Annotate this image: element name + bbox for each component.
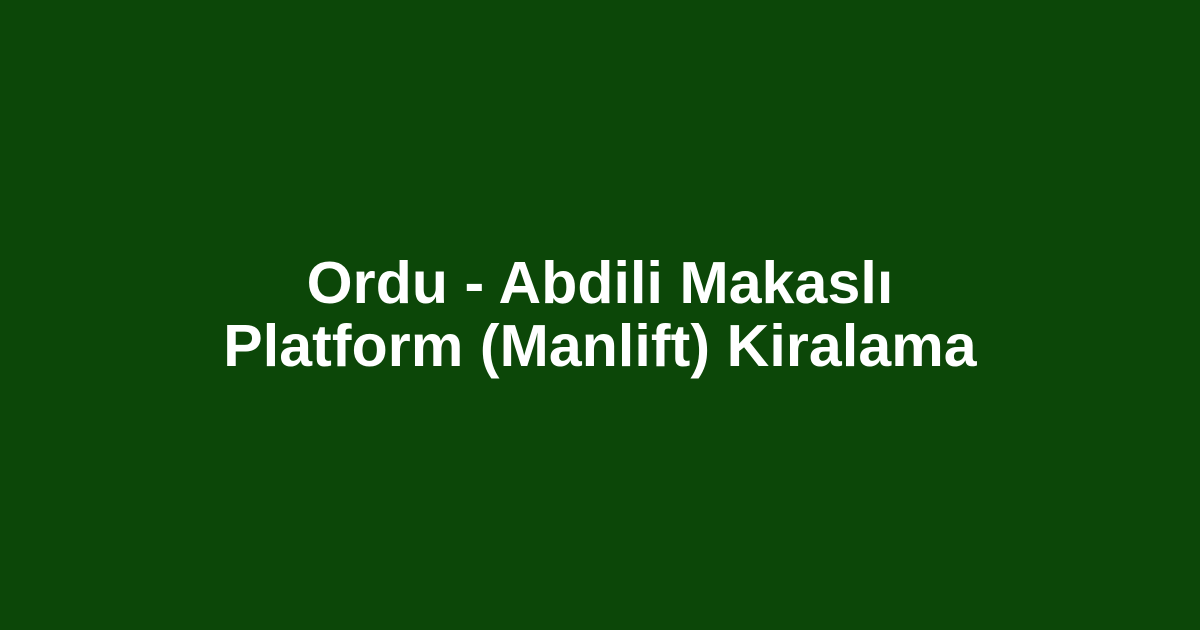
page-title: Ordu - Abdili Makaslı Platform (Manlift)… (200, 252, 1000, 377)
og-share-card: Ordu - Abdili Makaslı Platform (Manlift)… (0, 0, 1200, 630)
title-block: Ordu - Abdili Makaslı Platform (Manlift)… (180, 252, 1020, 377)
